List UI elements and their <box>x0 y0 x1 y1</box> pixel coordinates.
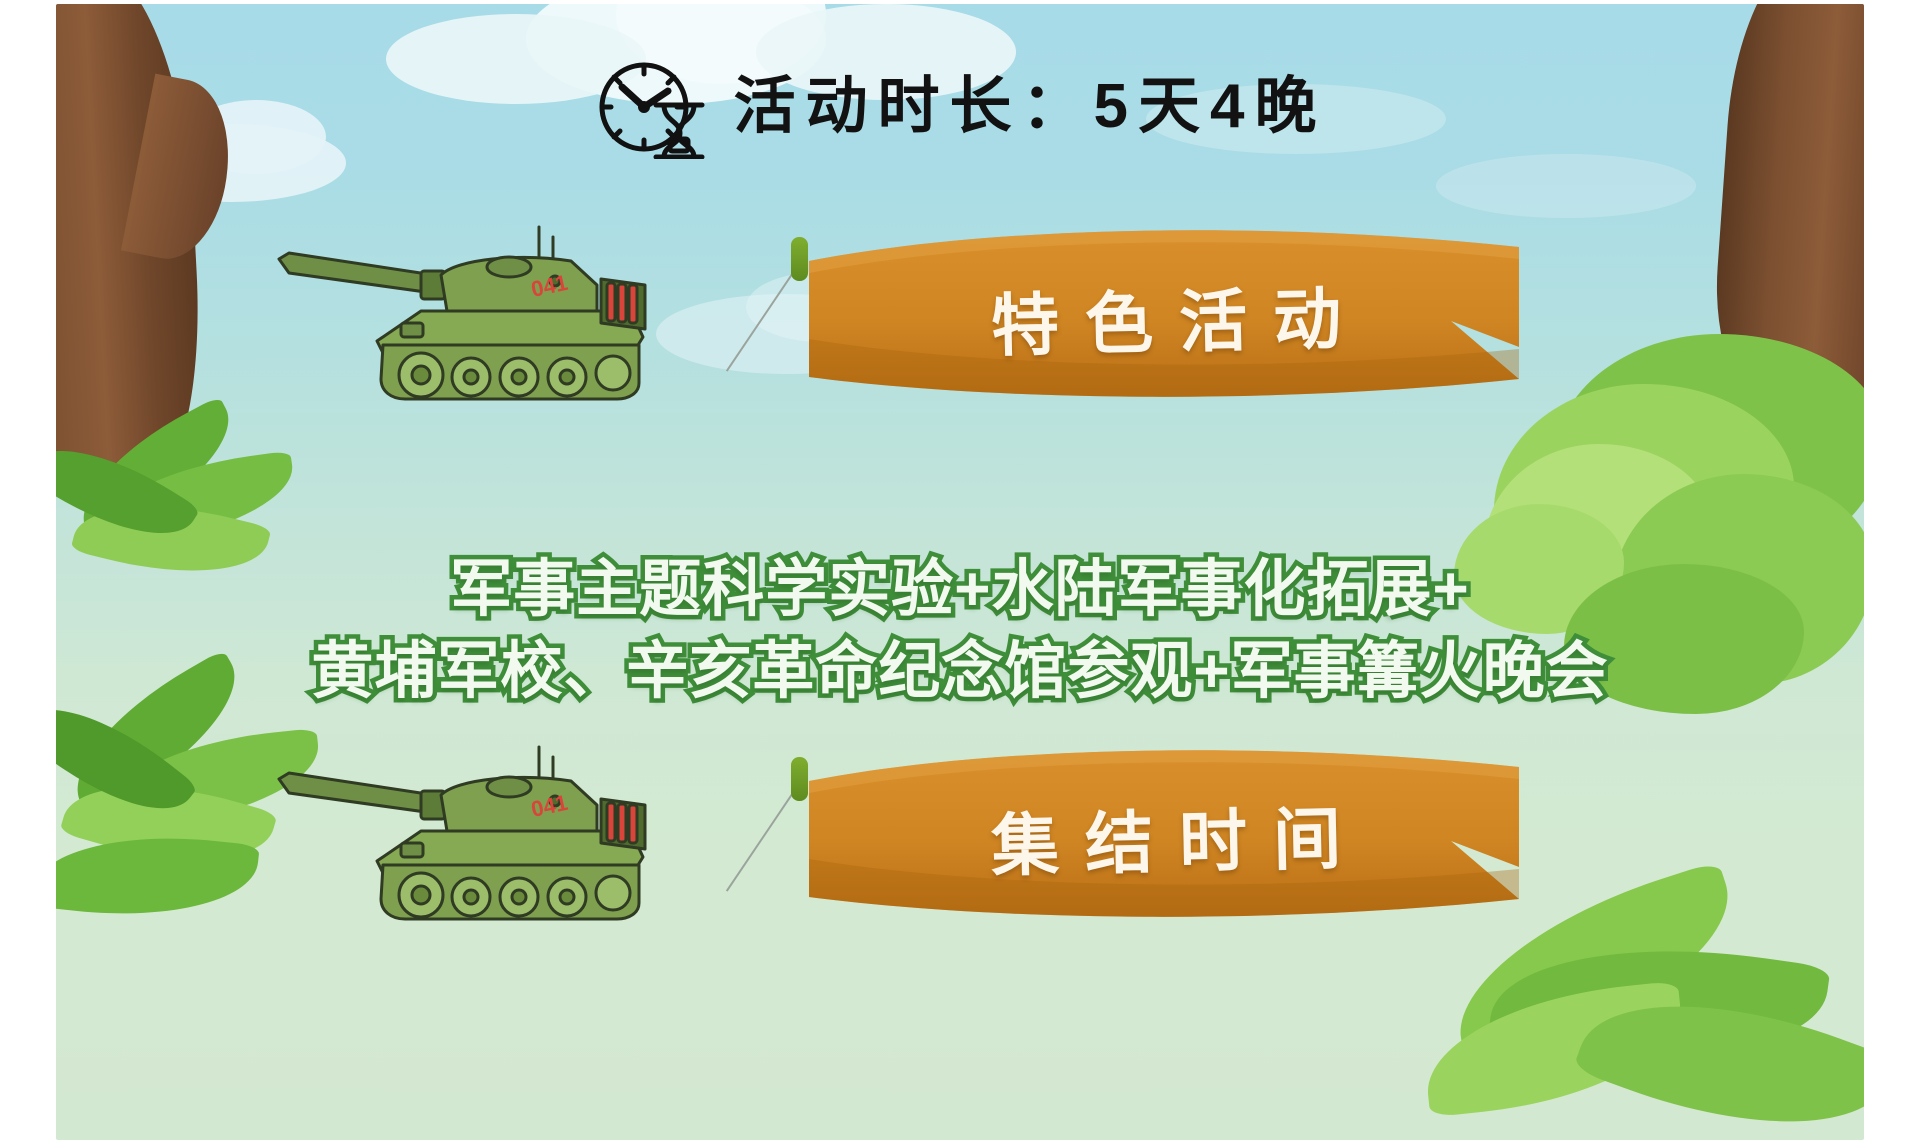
tank-icon: 041 <box>271 219 691 409</box>
tank-icon: 041 <box>271 739 691 929</box>
cloud-icon <box>1436 154 1696 218</box>
poster-stage: 活动时长：5天4晚 <box>56 4 1864 1140</box>
left-letterbox <box>0 0 56 1140</box>
section-assembly-time: 041 集结 <box>56 739 1864 939</box>
ribbon-string <box>726 271 795 372</box>
header-bar: 活动时长：5天4晚 <box>56 52 1864 162</box>
ribbon-string <box>726 791 795 892</box>
section-featured-activities: 041 特色 <box>56 219 1864 419</box>
body-text-line: 黄埔军校、辛亥革命纪念馆参观+军事篝火晚会 <box>56 631 1864 713</box>
body-text-block: 军事主题科学实验+水陆军事化拓展+ 黄埔军校、辛亥革命纪念馆参观+军事篝火晚会 <box>56 549 1864 714</box>
clock-hourglass-icon <box>594 55 712 159</box>
ribbon-featured-activities[interactable]: 特色活动 <box>791 219 1531 409</box>
right-letterbox <box>1864 0 1920 1140</box>
poster-canvas: 活动时长：5天4晚 <box>0 0 1920 1140</box>
body-text-line: 军事主题科学实验+水陆军事化拓展+ <box>56 549 1864 631</box>
ribbon-assembly-time[interactable]: 集结时间 <box>791 739 1531 929</box>
page-title: 活动时长：5天4晚 <box>734 76 1327 138</box>
